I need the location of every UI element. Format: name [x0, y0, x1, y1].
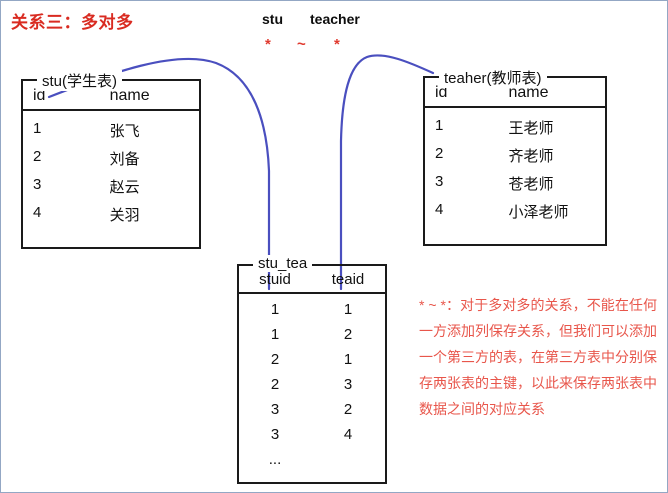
table-row: 1 1 — [239, 300, 385, 325]
cell-ellipsis: ... — [239, 450, 311, 475]
table-row: 4 小泽老师 — [425, 198, 605, 226]
cell-stuid: 1 — [239, 325, 311, 350]
cell-teaid: 1 — [311, 350, 385, 375]
cell-name: 张飞 — [96, 117, 199, 145]
table-row: 3 4 — [239, 425, 385, 450]
cardinality-label-stu: stu — [262, 11, 283, 27]
cell-teaid: 4 — [311, 425, 385, 450]
cell-id: 3 — [425, 170, 496, 198]
table-teaher-legend: teaher(教师表) — [439, 67, 547, 88]
cell-id: 1 — [23, 117, 96, 145]
cell-stuid: 3 — [239, 400, 311, 425]
table-stu: stu(学生表) id name 1 张飞 2 刘备 3 赵云 4 关羽 — [21, 79, 201, 249]
cardinality-star-left: * — [265, 37, 271, 52]
cell-stuid: 2 — [239, 350, 311, 375]
cell-id: 2 — [425, 142, 496, 170]
cell-name: 齐老师 — [496, 142, 605, 170]
table-stu-tea-header-teaid: teaid — [311, 267, 385, 292]
table-row: 3 苍老师 — [425, 170, 605, 198]
cell-id: 2 — [23, 145, 96, 173]
cell-teaid: 3 — [311, 375, 385, 400]
table-stu-legend: stu(学生表) — [37, 70, 122, 91]
table-row: 3 2 — [239, 400, 385, 425]
table-row: 4 关羽 — [23, 201, 199, 229]
table-teaher: teaher(教师表) id name 1 王老师 2 齐老师 3 苍老师 4 … — [423, 76, 607, 246]
cell-name: 关羽 — [96, 201, 199, 229]
cell-name: 刘备 — [96, 145, 199, 173]
cell-teaid: 1 — [311, 300, 385, 325]
table-row: 3 赵云 — [23, 173, 199, 201]
cell-name: 苍老师 — [496, 170, 605, 198]
cell-id: 1 — [425, 114, 496, 142]
cardinality-star-right: * — [334, 37, 340, 52]
table-teaher-body: 1 王老师 2 齐老师 3 苍老师 4 小泽老师 — [425, 108, 605, 226]
cell-stuid: 1 — [239, 300, 311, 325]
table-row: 2 齐老师 — [425, 142, 605, 170]
cell-teaid: 2 — [311, 400, 385, 425]
cell-name: 王老师 — [496, 114, 605, 142]
table-stu-tea: stu_tea stuid teaid 1 1 1 2 2 1 2 3 3 — [237, 264, 387, 484]
table-row: 2 3 — [239, 375, 385, 400]
table-row: 1 王老师 — [425, 114, 605, 142]
table-row: 1 2 — [239, 325, 385, 350]
cell-stuid: 3 — [239, 425, 311, 450]
cell-id: 3 — [23, 173, 96, 201]
cell-id: 4 — [425, 198, 496, 226]
cardinality-label-teacher: teacher — [310, 11, 360, 27]
cell-stuid: 2 — [239, 375, 311, 400]
diagram-canvas: 关系三：多对多 stu teacher * ~ * stu(学生表) id na… — [0, 0, 668, 493]
cell-name: 赵云 — [96, 173, 199, 201]
table-stu-tea-legend: stu_tea — [253, 255, 312, 272]
table-row: 2 刘备 — [23, 145, 199, 173]
table-row: 1 张飞 — [23, 117, 199, 145]
table-stu-tea-body: 1 1 1 2 2 1 2 3 3 2 3 4 — [239, 294, 385, 475]
connector-teaher-to-teaid — [341, 55, 433, 289]
table-stu-body: 1 张飞 2 刘备 3 赵云 4 关羽 — [23, 111, 199, 229]
cell-id: 4 — [23, 201, 96, 229]
cell-name: 小泽老师 — [496, 198, 605, 226]
cell-empty — [311, 450, 385, 475]
cardinality-tilde: ~ — [297, 37, 306, 52]
table-row: 2 1 — [239, 350, 385, 375]
explanation-text: * ~ *：对于多对多的关系，不能在任何一方添加列保存关系，但我们可以添加一个第… — [419, 292, 657, 422]
page-title: 关系三：多对多 — [11, 8, 134, 33]
table-row-ellipsis: ... — [239, 450, 385, 475]
cell-teaid: 2 — [311, 325, 385, 350]
